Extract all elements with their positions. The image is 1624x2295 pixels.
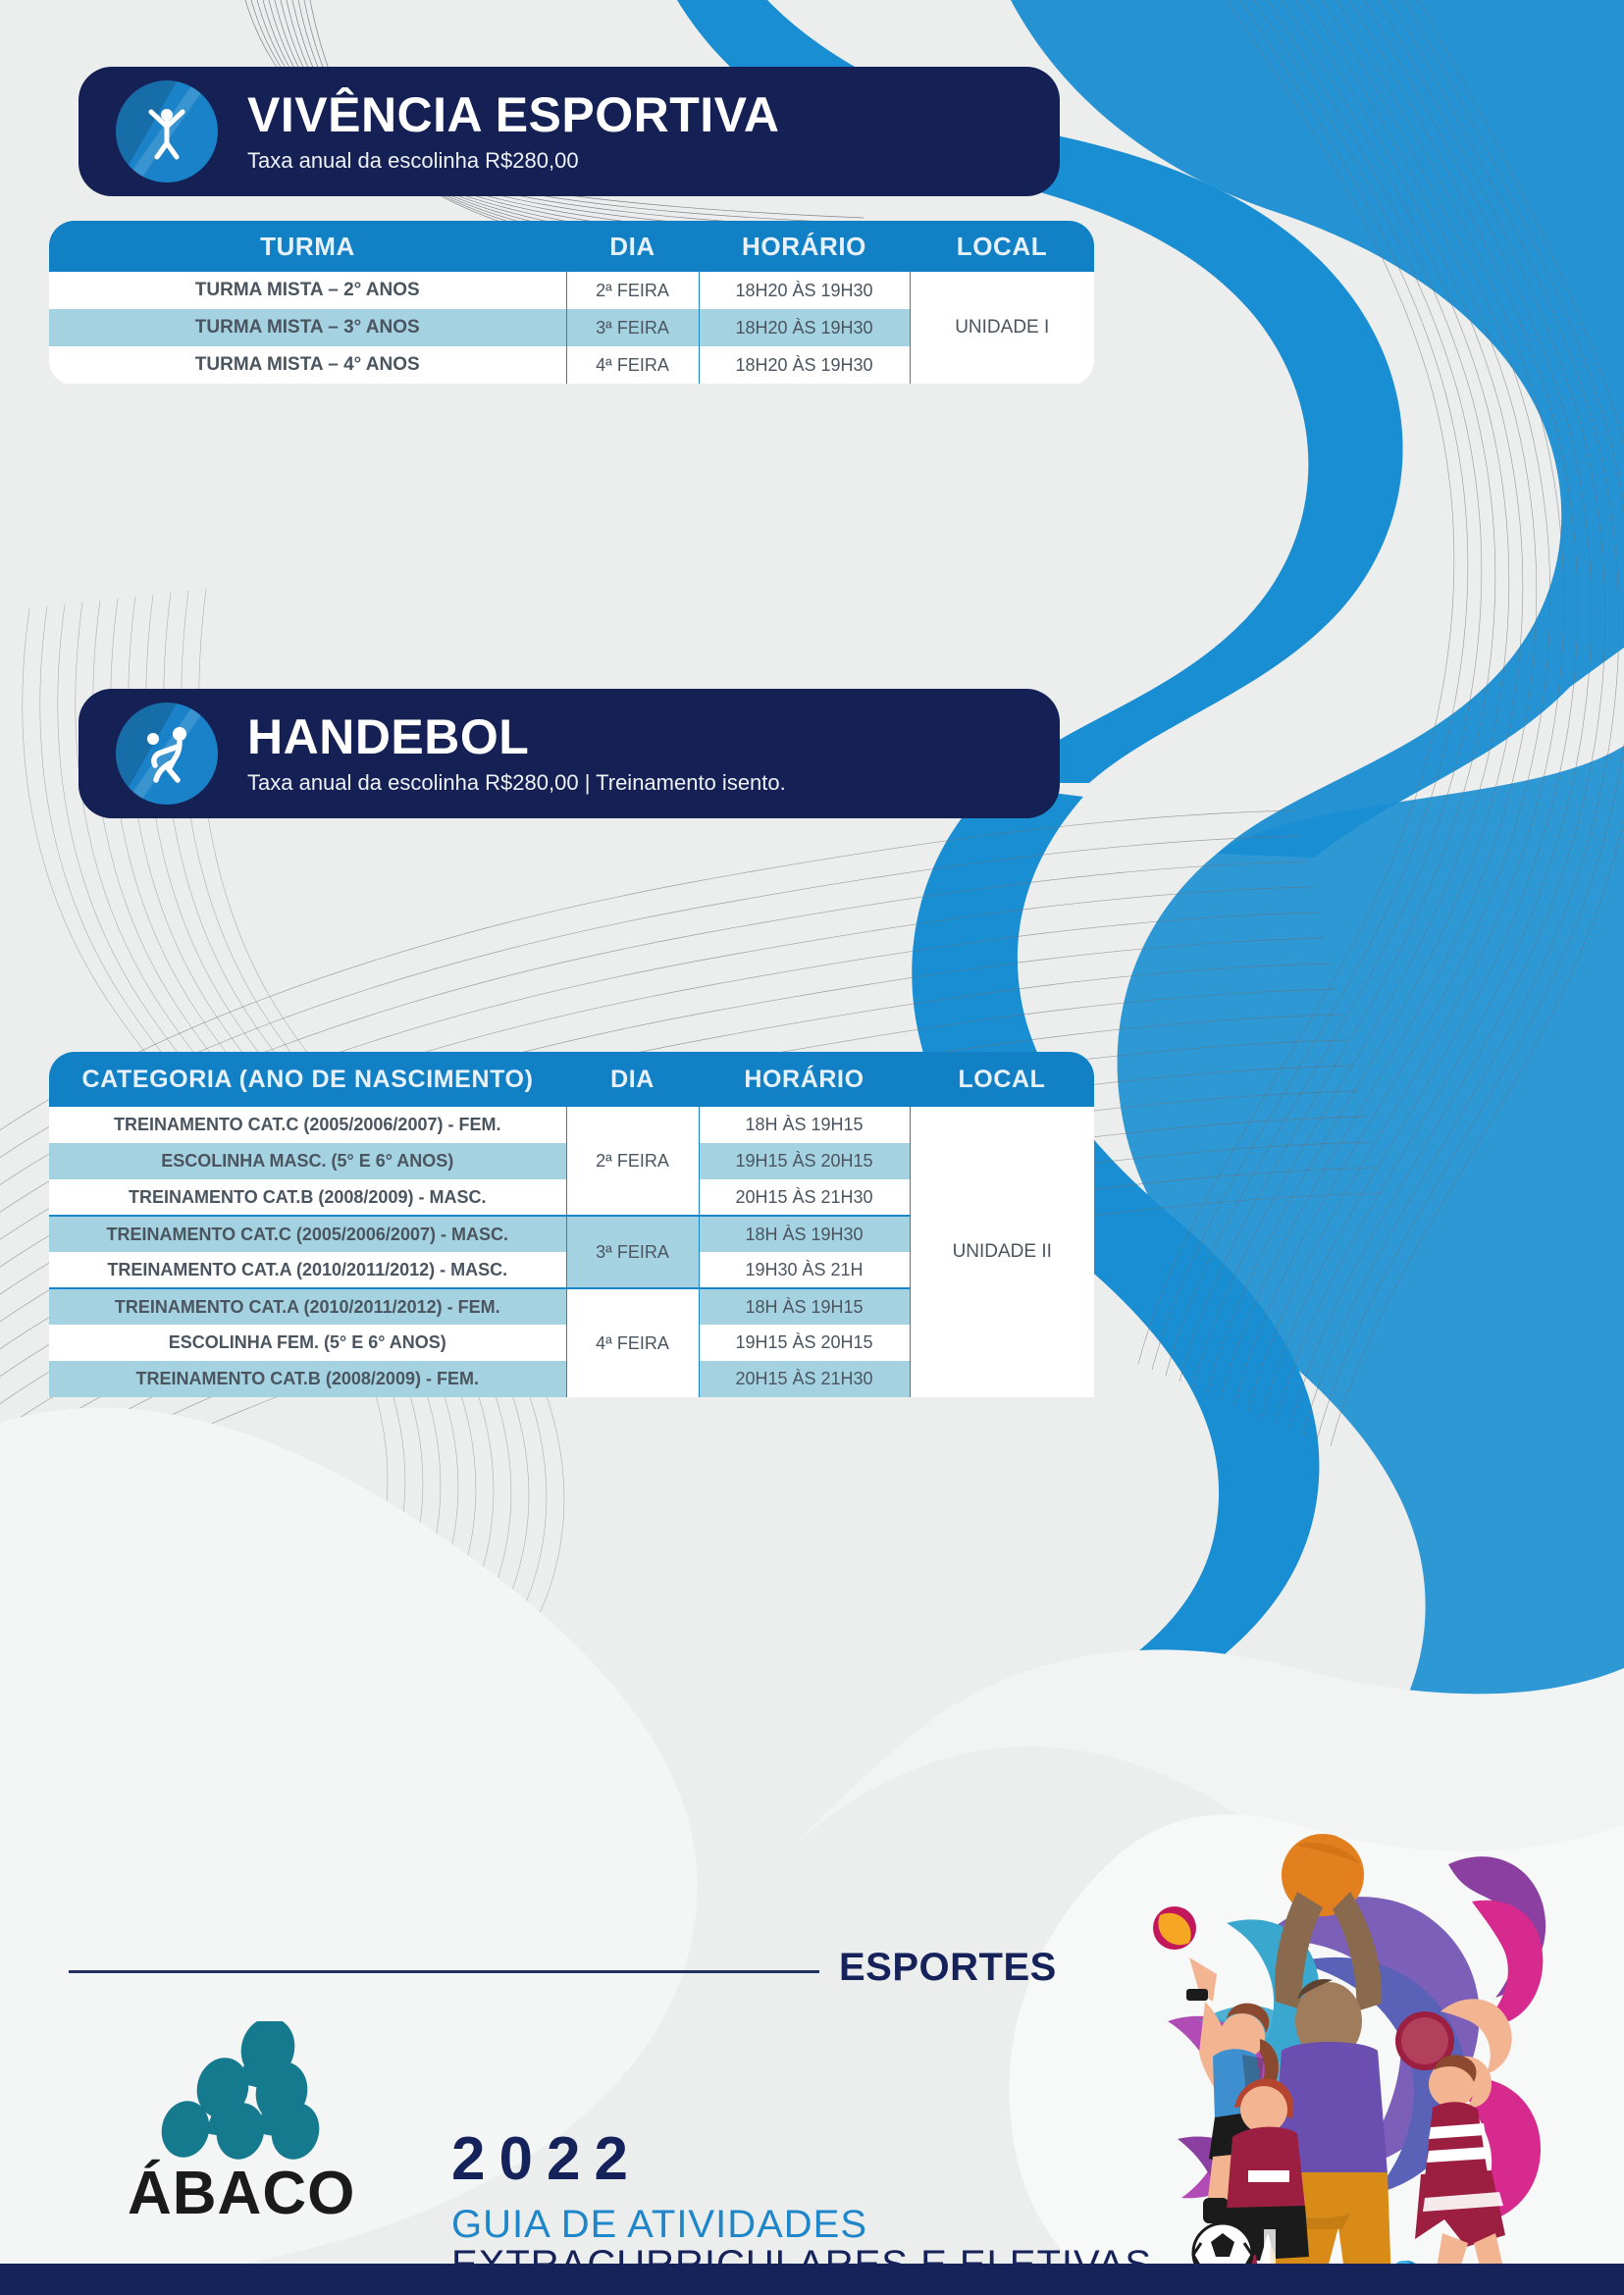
footer-year: 2022 [451, 2124, 642, 2194]
cell-horario: 20H15 ÀS 21H30 [699, 1361, 910, 1397]
cell-horario: 20H15 ÀS 21H30 [699, 1179, 910, 1216]
cell-horario: 19H15 ÀS 20H15 [699, 1325, 910, 1361]
subtitle-handebol: Taxa anual da escolinha R$280,00 | Trein… [247, 771, 786, 795]
schedule-table-vivencia: TURMA DIA HORÁRIO LOCAL TURMA MISTA – 2°… [49, 221, 1094, 384]
table-header-row: TURMA DIA HORÁRIO LOCAL [49, 221, 1094, 272]
cell-horario: 18H ÀS 19H15 [699, 1288, 910, 1325]
footer-category-label: ESPORTES [839, 1946, 1057, 1990]
section-header-handebol: HANDEBOL Taxa anual da escolinha R$280,0… [79, 689, 1060, 818]
handball-player-icon [116, 703, 218, 805]
table-header-row: CATEGORIA (ANO DE NASCIMENTO) DIA HORÁRI… [49, 1052, 1094, 1107]
cell-dia: 3ª FEIRA [566, 1216, 699, 1288]
cell-categoria: TREINAMENTO CAT.A (2010/2011/2012) - FEM… [49, 1288, 566, 1325]
table-row: TURMA MISTA – 2° ANOS 2ª FEIRA 18H20 ÀS … [49, 272, 1094, 309]
footer-guide-line1: GUIA DE ATIVIDADES [451, 2203, 867, 2247]
cell-categoria: TREINAMENTO CAT.C (2005/2006/2007) - MAS… [49, 1216, 566, 1252]
brand-name: ÁBACO [128, 2159, 355, 2228]
cell-dia: 4ª FEIRA [566, 346, 699, 384]
cell-turma: TURMA MISTA – 3° ANOS [49, 309, 566, 346]
col-local: LOCAL [910, 221, 1094, 272]
person-arms-up-icon [116, 80, 218, 183]
cell-dia: 3ª FEIRA [566, 309, 699, 346]
cell-categoria: TREINAMENTO CAT.A (2010/2011/2012) - MAS… [49, 1252, 566, 1288]
cell-horario: 18H20 ÀS 19H30 [699, 346, 910, 384]
cell-dia: 4ª FEIRA [566, 1288, 699, 1397]
cell-turma: TURMA MISTA – 2° ANOS [49, 272, 566, 309]
cell-horario: 18H ÀS 19H15 [699, 1107, 910, 1143]
footer-divider [69, 1970, 819, 1973]
table-wrap-vivencia: TURMA DIA HORÁRIO LOCAL TURMA MISTA – 2°… [49, 221, 1094, 386]
cell-horario: 18H20 ÀS 19H30 [699, 309, 910, 346]
col-horario: HORÁRIO [699, 1052, 910, 1107]
table-wrap-handebol: CATEGORIA (ANO DE NASCIMENTO) DIA HORÁRI… [49, 1052, 1094, 1544]
section-header-vivencia: VIVÊNCIA ESPORTIVA Taxa anual da escolin… [79, 67, 1060, 196]
table-row: TREINAMENTO CAT.C (2005/2006/2007) - FEM… [49, 1107, 1094, 1143]
cell-horario: 19H30 ÀS 21H [699, 1252, 910, 1288]
cell-categoria: TREINAMENTO CAT.C (2005/2006/2007) - FEM… [49, 1107, 566, 1143]
col-turma: TURMA [49, 221, 566, 272]
abaco-dots-logo [152, 2021, 329, 2168]
page-title-vivencia: VIVÊNCIA ESPORTIVA [247, 90, 779, 139]
col-local: LOCAL [910, 1052, 1094, 1107]
subtitle-vivencia: Taxa anual da escolinha R$280,00 [247, 149, 779, 173]
col-horario: HORÁRIO [699, 221, 910, 272]
cell-categoria: ESCOLINHA MASC. (5° E 6° ANOS) [49, 1143, 566, 1179]
col-categoria: CATEGORIA (ANO DE NASCIMENTO) [49, 1052, 566, 1107]
cell-local: UNIDADE I [910, 272, 1094, 384]
cell-horario: 18H ÀS 19H30 [699, 1216, 910, 1252]
cell-horario: 18H20 ÀS 19H30 [699, 272, 910, 309]
col-dia: DIA [566, 221, 699, 272]
cell-categoria: TREINAMENTO CAT.B (2008/2009) - FEM. [49, 1361, 566, 1397]
cell-turma: TURMA MISTA – 4° ANOS [49, 346, 566, 384]
page-title-handebol: HANDEBOL [247, 712, 786, 761]
cell-dia: 2ª FEIRA [566, 1107, 699, 1216]
cell-categoria: ESCOLINHA FEM. (5° E 6° ANOS) [49, 1325, 566, 1361]
cell-dia: 2ª FEIRA [566, 272, 699, 309]
schedule-table-handebol: CATEGORIA (ANO DE NASCIMENTO) DIA HORÁRI… [49, 1052, 1094, 1397]
cell-horario: 19H15 ÀS 20H15 [699, 1143, 910, 1179]
cell-categoria: TREINAMENTO CAT.B (2008/2009) - MASC. [49, 1179, 566, 1216]
footer-bottom-bar [0, 2264, 1624, 2295]
col-dia: DIA [566, 1052, 699, 1107]
cell-local: UNIDADE II [910, 1107, 1094, 1397]
